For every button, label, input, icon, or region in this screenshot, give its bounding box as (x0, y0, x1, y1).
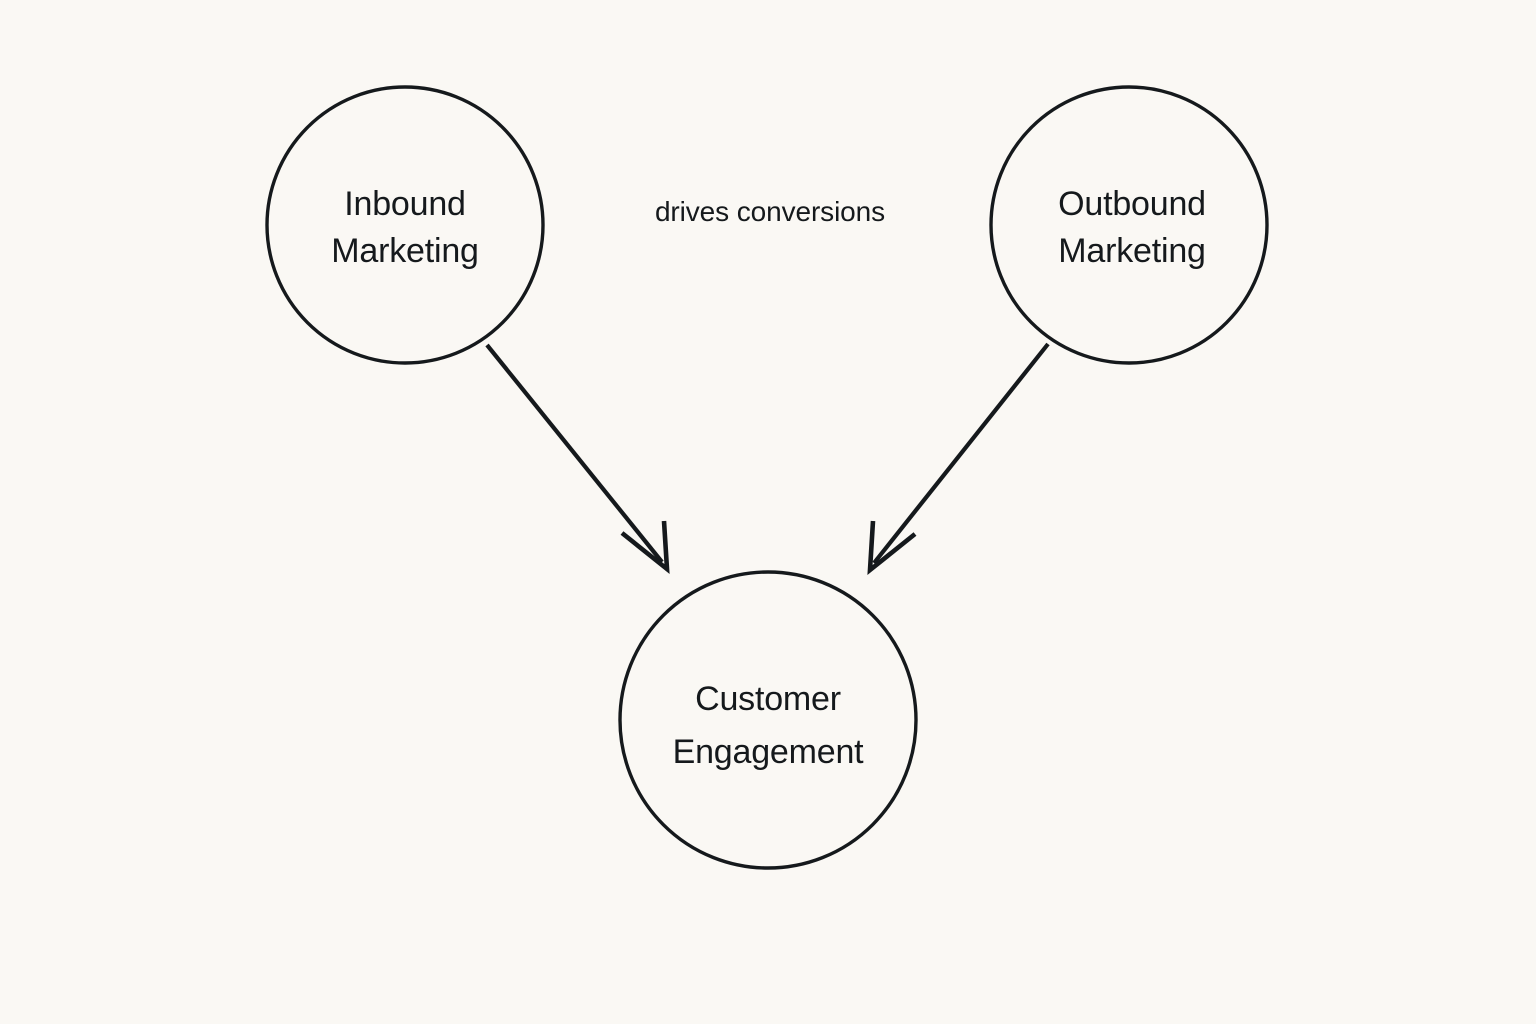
node-customer-engagement[interactable]: Customer Engagement (620, 572, 916, 868)
edge-outbound-to-customer[interactable] (870, 344, 1048, 570)
node-outbound-marketing[interactable]: Outbound Marketing (991, 87, 1267, 363)
node-label-inbound-marketing-line1: Inbound (344, 185, 466, 223)
node-label-customer-engagement-line1: Customer (695, 680, 841, 718)
edge-line-inbound-to-customer (487, 345, 662, 562)
edge-line-outbound-to-customer (874, 344, 1048, 563)
arrowhead-inbound-to-customer (622, 521, 667, 569)
diagram-canvas: Inbound Marketing Outbound Marketing Cus… (0, 0, 1536, 1024)
node-circle-inbound-marketing (267, 87, 543, 363)
node-circle-customer-engagement (620, 572, 916, 868)
node-circle-outbound-marketing (991, 87, 1267, 363)
node-inbound-marketing[interactable]: Inbound Marketing (267, 87, 543, 363)
node-label-inbound-marketing-line2: Marketing (331, 232, 478, 270)
node-label-customer-engagement-line2: Engagement (673, 733, 865, 771)
diagram-svg: Inbound Marketing Outbound Marketing Cus… (0, 0, 1536, 1024)
edge-label-drives-conversions: drives conversions (655, 196, 885, 227)
node-label-outbound-marketing-line1: Outbound (1058, 185, 1206, 223)
edge-inbound-to-customer[interactable] (487, 345, 667, 569)
arrowhead-outbound-to-customer (870, 521, 915, 570)
node-label-outbound-marketing-line2: Marketing (1058, 232, 1205, 270)
